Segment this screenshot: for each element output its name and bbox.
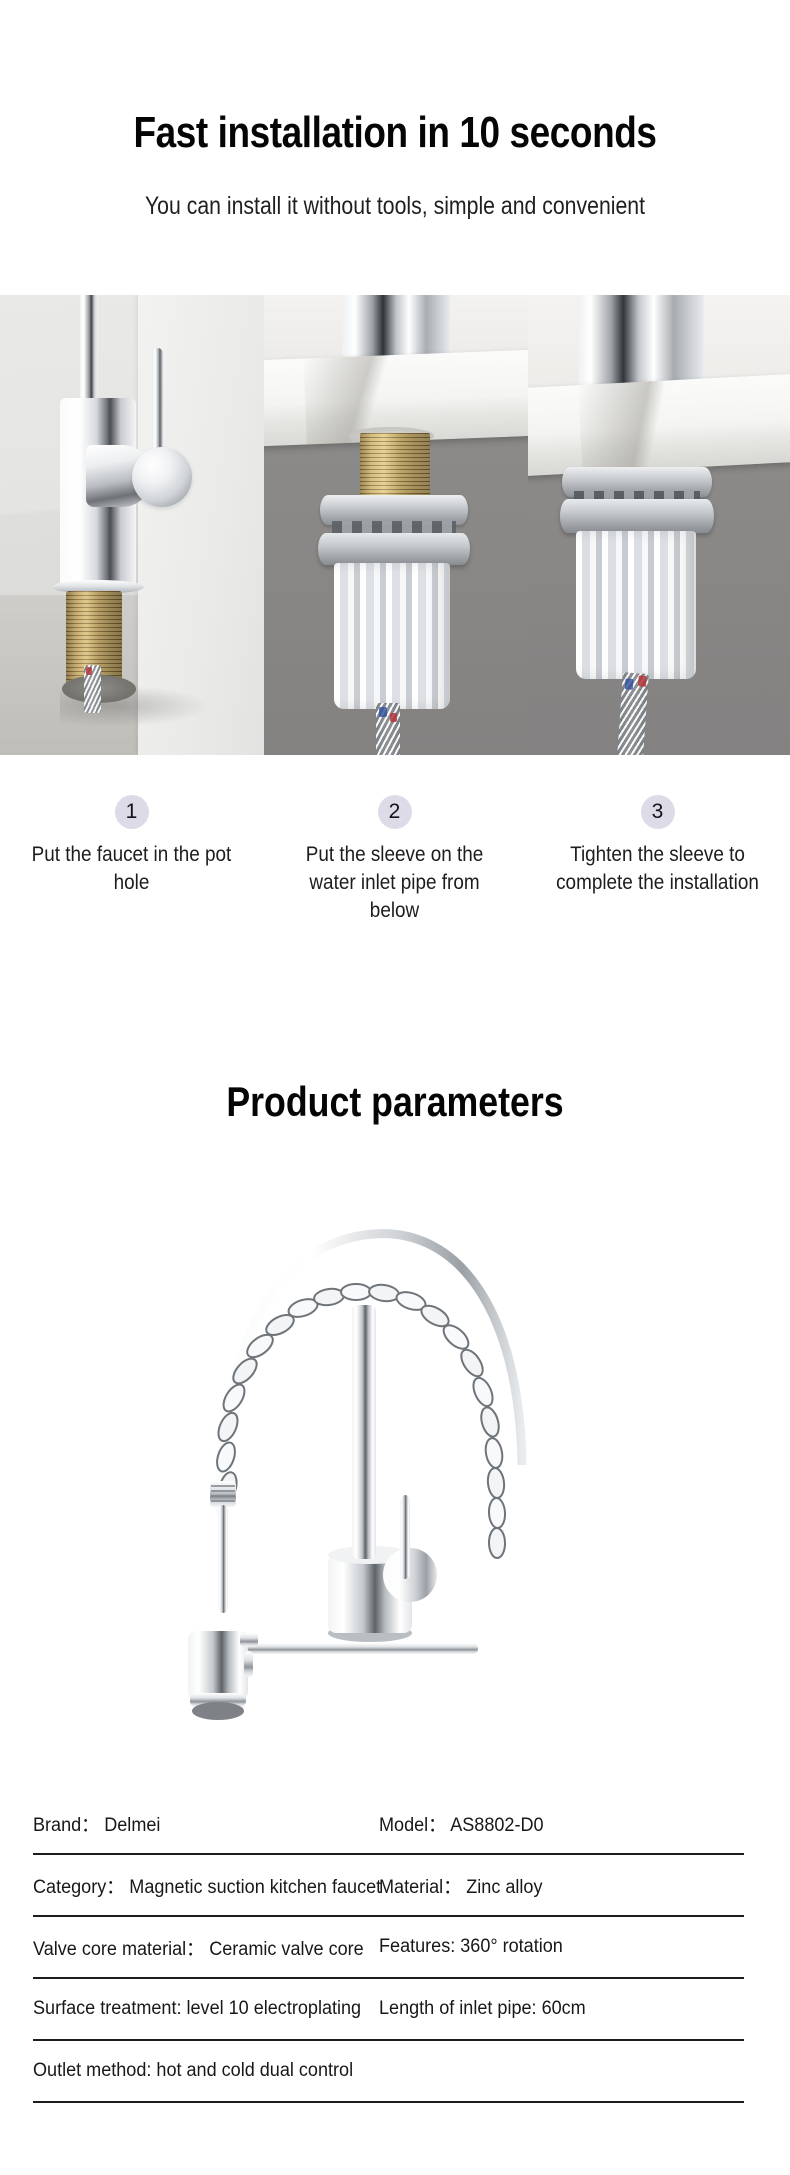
spec-cell-right: Length of inlet pipe: 60cm <box>379 1998 726 2020</box>
install-step-2: 2 Put the sleeve on the water inlet pipe… <box>263 795 526 925</box>
spec-cell-right: Features: 360° rotation <box>379 1936 726 1958</box>
install-steps: 1 Put the faucet in the pot hole 2 Put t… <box>0 795 790 925</box>
step-number-badge: 2 <box>378 795 412 829</box>
install-photo-strip <box>0 295 790 755</box>
spec-row: Outlet method: hot and cold dual control <box>33 2041 744 2103</box>
spec-cell-left: Brand： Delmei <box>33 1810 362 1837</box>
spec-cell-left: Valve core material： Ceramic valve core <box>33 1934 362 1961</box>
install-subtitle: You can install it without tools, simple… <box>59 192 731 221</box>
step-number-badge: 1 <box>115 795 149 829</box>
install-step-3: 3 Tighten the sleeve to complete the ins… <box>526 795 789 925</box>
step-caption: Tighten the sleeve to complete the insta… <box>539 841 776 897</box>
step-caption: Put the sleeve on the water inlet pipe f… <box>276 841 513 925</box>
spec-cell-left: Category： Magnetic suction kitchen fauce… <box>33 1872 362 1899</box>
step-caption: Put the faucet in the pot hole <box>13 841 250 897</box>
spec-row: Surface treatment: level 10 electroplati… <box>33 1979 744 2041</box>
install-photo-2 <box>264 295 528 755</box>
spec-cell-right: Material： Zinc alloy <box>379 1872 726 1899</box>
install-title: Fast installation in 10 seconds <box>63 108 727 158</box>
step-number-badge: 3 <box>641 795 675 829</box>
install-photo-1 <box>0 295 264 755</box>
spec-row: Brand： Delmei Model： AS8802-D0 <box>33 1793 744 1855</box>
product-hero-image <box>0 1165 790 1790</box>
spec-row: Valve core material： Ceramic valve core … <box>33 1917 744 1979</box>
spec-cell-left: Outlet method: hot and cold dual control <box>33 2060 362 2082</box>
spec-cell-right: Model： AS8802-D0 <box>379 1810 726 1837</box>
spec-cell-left: Surface treatment: level 10 electroplati… <box>33 1998 362 2020</box>
install-photo-3 <box>528 295 790 755</box>
spec-row: Category： Magnetic suction kitchen fauce… <box>33 1855 744 1917</box>
install-step-1: 1 Put the faucet in the pot hole <box>0 795 263 925</box>
spec-table: Brand： Delmei Model： AS8802-D0 Category：… <box>33 1793 744 2103</box>
product-parameters-title: Product parameters <box>59 1078 731 1126</box>
